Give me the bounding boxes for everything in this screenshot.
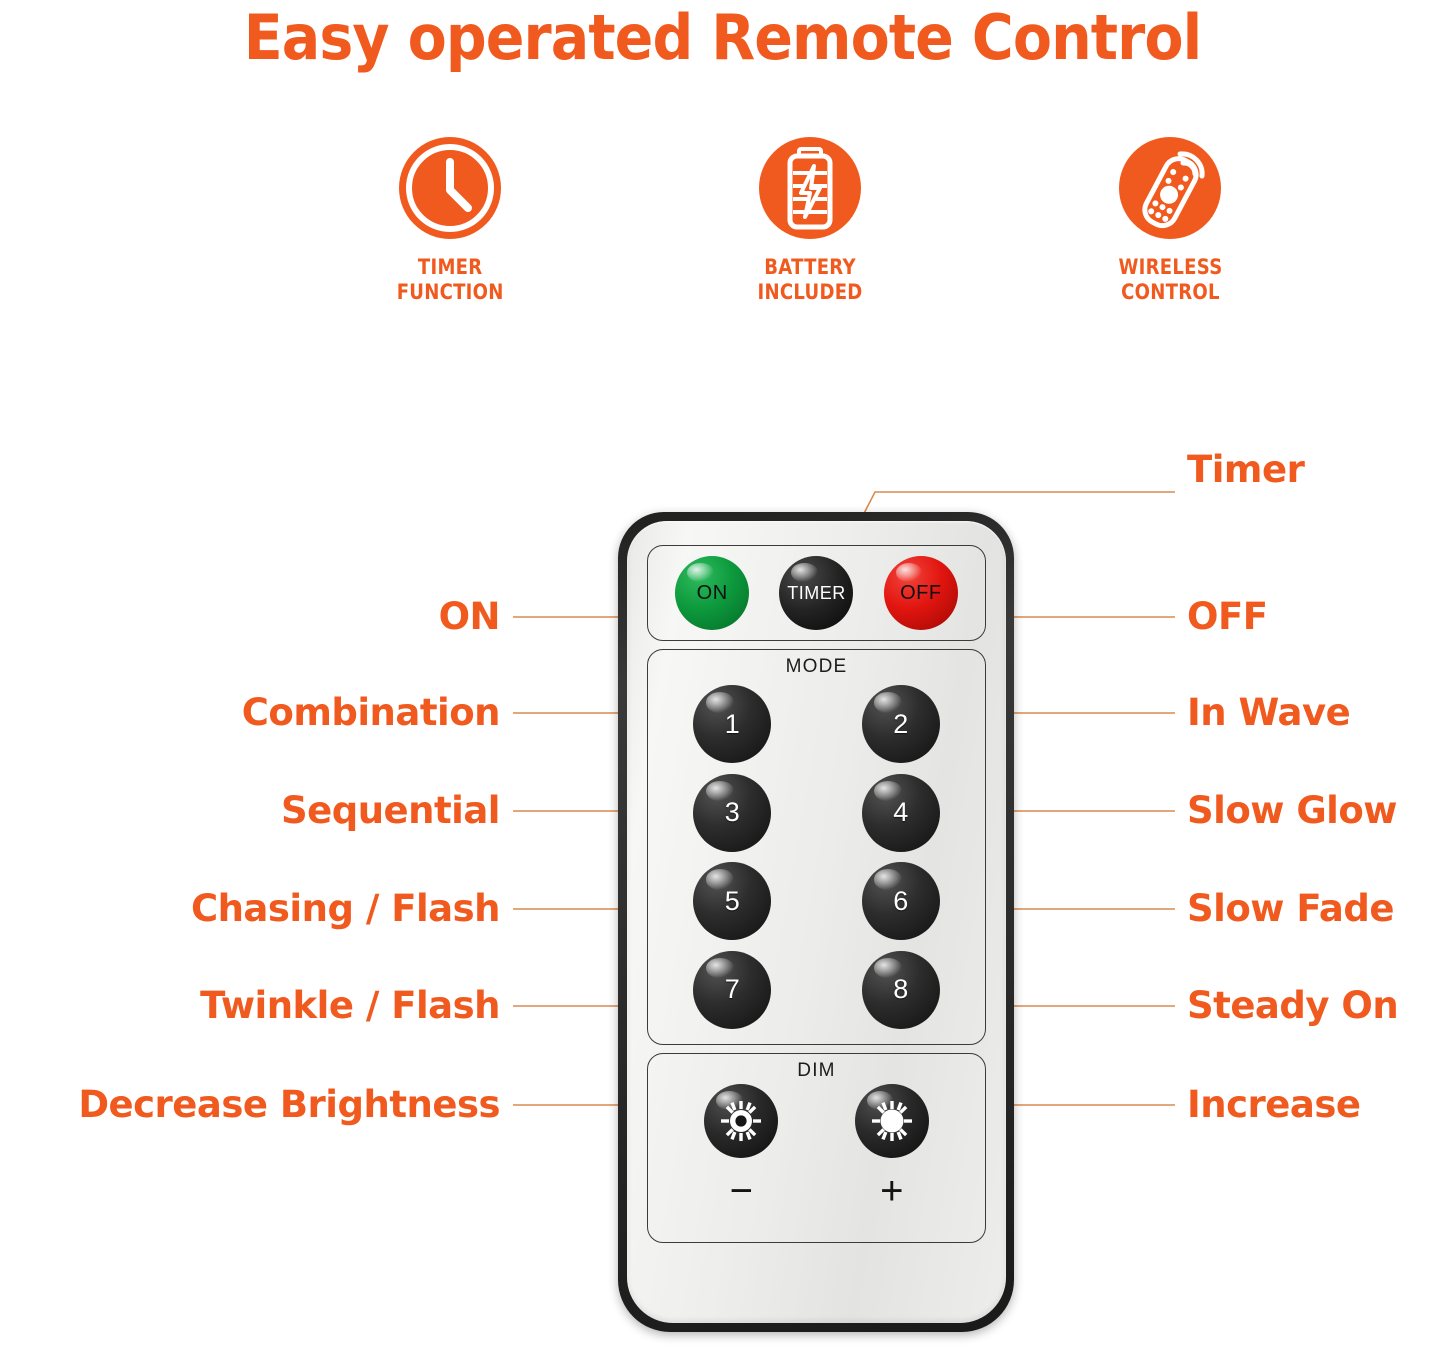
dim-panel: DIM [647,1053,986,1243]
remote-face: ON TIMER OFF MODE 1 2 [627,521,1006,1323]
mode-panel-label: MODE [648,656,985,678]
button-mode-4[interactable]: 4 [862,774,940,852]
dim-increase-sign: + [855,1174,929,1208]
button-increase-brightness[interactable] [855,1084,929,1158]
feature-caption: WIRELESS CONTROL [1118,255,1222,305]
battery-icon [757,135,863,241]
button-label: TIMER [787,583,846,604]
callout-in-wave: In Wave [1187,693,1350,733]
button-decrease-brightness[interactable] [704,1084,778,1158]
callout-steady-on: Steady On [1187,986,1398,1026]
button-label: 7 [725,974,740,1005]
button-label: 2 [893,709,908,740]
callout-increase: Increase [1187,1085,1360,1125]
mode-panel: MODE 1 2 3 4 5 6 7 [647,649,986,1045]
button-label: 1 [725,709,740,740]
callout-on: ON [439,597,500,637]
button-mode-6[interactable]: 6 [862,862,940,940]
button-label: 5 [725,886,740,917]
button-label: 6 [893,886,908,917]
callout-slow-fade: Slow Fade [1187,889,1394,929]
brightness-high-icon [869,1098,915,1144]
callout-slow-glow: Slow Glow [1187,791,1397,831]
remote-control-device: ON TIMER OFF MODE 1 2 [618,512,1014,1332]
infographic-page: Easy operated Remote Control TIMER FUNCT… [0,0,1445,1350]
feature-wireless-control: WIRELESS CONTROL [1020,135,1320,305]
button-mode-1[interactable]: 1 [693,685,771,763]
feature-battery-included: BATTERY INCLUDED [660,135,960,305]
callout-twinkle-flash: Twinkle / Flash [200,986,500,1026]
button-label: 4 [893,797,908,828]
brightness-low-icon [718,1098,764,1144]
button-off[interactable]: OFF [884,556,958,630]
button-mode-8[interactable]: 8 [862,951,940,1029]
power-panel: ON TIMER OFF [647,545,986,641]
feature-timer-function: TIMER FUNCTION [300,135,600,305]
button-mode-3[interactable]: 3 [693,774,771,852]
clock-icon [397,135,503,241]
callout-off: OFF [1187,597,1268,637]
callout-timer: Timer [1187,450,1304,490]
button-mode-2[interactable]: 2 [862,685,940,763]
callout-combination: Combination [242,693,500,733]
feature-caption: TIMER FUNCTION [397,255,504,305]
button-timer[interactable]: TIMER [779,556,853,630]
button-mode-5[interactable]: 5 [693,862,771,940]
dim-decrease-sign: − [704,1174,778,1208]
remote-signal-icon [1117,135,1223,241]
button-label: 8 [893,974,908,1005]
button-label: 3 [725,797,740,828]
callout-decrease-brightness: Decrease Brightness [78,1085,500,1125]
callout-sequential: Sequential [281,791,500,831]
button-label: ON [697,582,728,605]
feature-strip: TIMER FUNCTION BATTERY INCLUDED [300,135,1320,315]
callout-chasing-flash: Chasing / Flash [191,889,500,929]
button-on[interactable]: ON [675,556,749,630]
button-label: OFF [900,582,942,605]
button-mode-7[interactable]: 7 [693,951,771,1029]
page-title: Easy operated Remote Control [58,2,1387,74]
dim-panel-label: DIM [648,1060,985,1082]
feature-caption: BATTERY INCLUDED [757,255,862,305]
